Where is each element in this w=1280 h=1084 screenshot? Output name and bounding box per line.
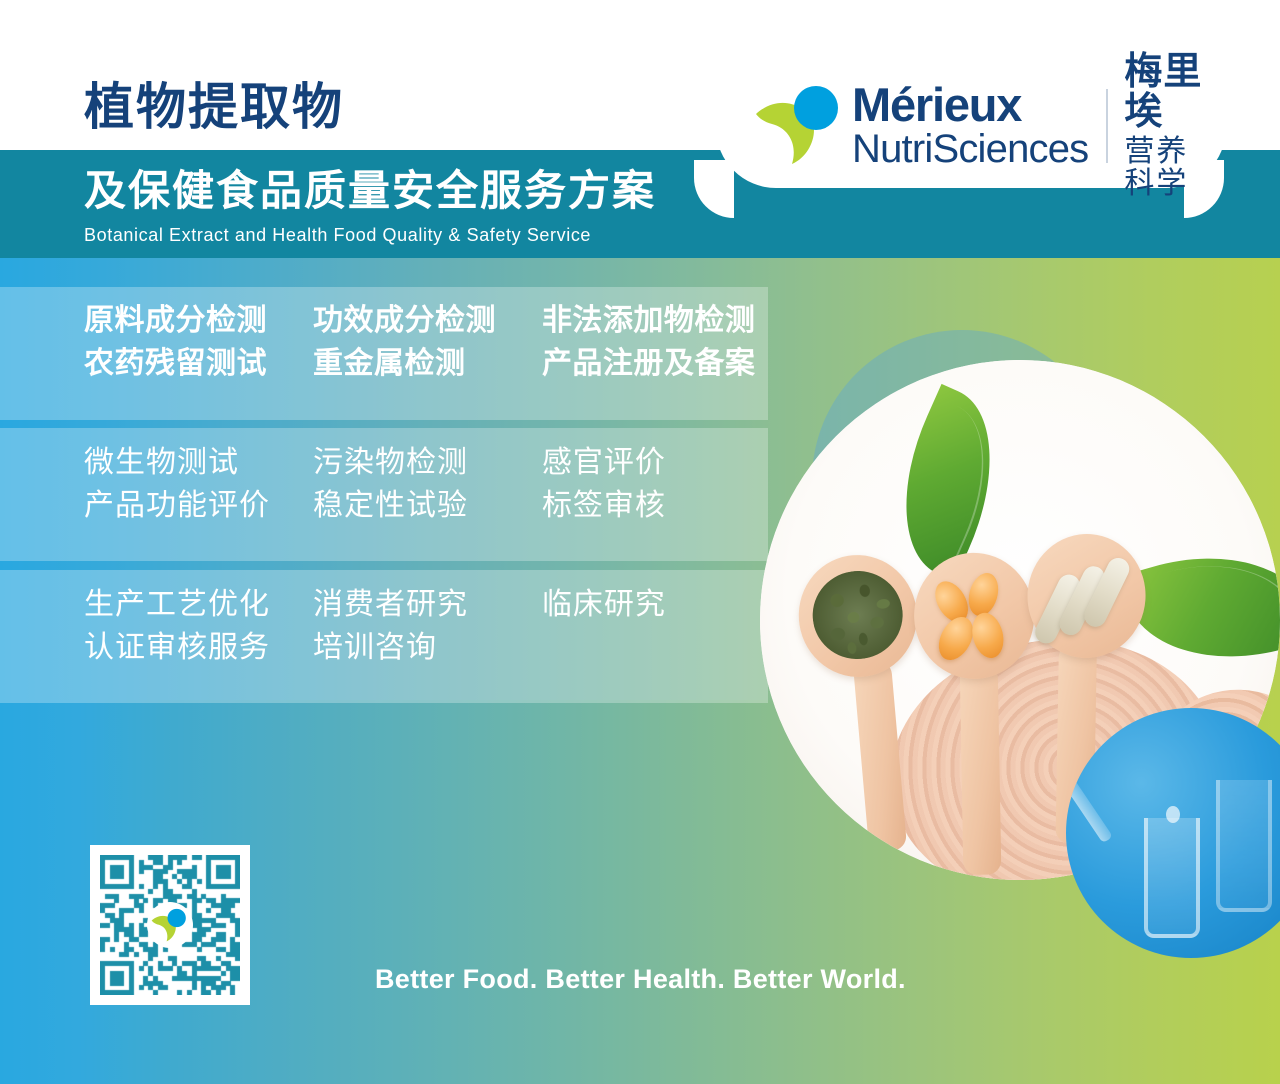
logo-divider — [1106, 89, 1108, 163]
test-tube-back — [1216, 780, 1272, 912]
page-subtitle-cn: 及保健食品质量安全服务方案 — [84, 170, 656, 212]
service-column: 功效成分检测 重金属检测 — [313, 300, 542, 385]
service-item: 微生物测试 — [84, 442, 313, 485]
service-column: 感官评价 标签审核 — [542, 442, 790, 527]
test-tube-front — [1144, 818, 1200, 938]
service-column: 微生物测试 产品功能评价 — [84, 442, 313, 527]
service-item: 功效成分检测 — [313, 300, 542, 343]
service-item: 标签审核 — [542, 485, 790, 528]
service-item: 污染物检测 — [313, 442, 542, 485]
service-column: 污染物检测 稳定性试验 — [313, 442, 542, 527]
footer-tagline: Better Food. Better Health. Better World… — [375, 966, 906, 993]
service-item: 原料成分检测 — [84, 300, 313, 343]
poster-root: Mérieux NutriSciences 梅里埃 营养科学 植物提取物 及保健… — [0, 0, 1280, 1084]
merieux-leaf-mark-icon — [752, 84, 848, 168]
service-item: 认证审核服务 — [84, 627, 313, 670]
service-item: 农药残留测试 — [84, 343, 313, 386]
service-column: 消费者研究 培训咨询 — [313, 584, 542, 669]
service-column: 原料成分检测 农药残留测试 — [84, 300, 313, 385]
brand-logo: Mérieux NutriSciences 梅里埃 营养科学 — [752, 78, 1212, 174]
service-item: 临床研究 — [542, 584, 790, 627]
service-item: 重金属检测 — [313, 343, 542, 386]
service-group-1: 原料成分检测 农药残留测试 功效成分检测 重金属检测 非法添加物检测 产品注册及… — [0, 300, 790, 385]
brand-name-cn-line1: 梅里埃 — [1124, 52, 1212, 133]
service-item: 产品注册及备案 — [542, 343, 790, 386]
liquid-drop — [1166, 806, 1180, 823]
service-column: 生产工艺优化 认证审核服务 — [84, 584, 313, 669]
service-column: 非法添加物检测 产品注册及备案 — [542, 300, 790, 385]
brand-name-line2: NutriSciences — [852, 128, 1088, 170]
service-group-3: 生产工艺优化 认证审核服务 消费者研究 培训咨询 临床研究 — [0, 584, 790, 669]
service-item: 消费者研究 — [313, 584, 542, 627]
logo-plate-notch-left — [694, 186, 730, 218]
wechat-qr-code[interactable] — [90, 845, 250, 1005]
qr-center-logo — [147, 902, 193, 948]
brand-name-line1: Mérieux — [852, 82, 1088, 127]
service-column: 临床研究 — [542, 584, 790, 669]
service-item: 感官评价 — [542, 442, 790, 485]
service-item: 培训咨询 — [313, 627, 542, 670]
service-group-2: 微生物测试 产品功能评价 污染物检测 稳定性试验 感官评价 标签审核 — [0, 442, 790, 527]
brand-wordmark: Mérieux NutriSciences — [852, 82, 1088, 170]
brand-name-cn-line2: 营养科学 — [1124, 136, 1212, 200]
page-subtitle-en: Botanical Extract and Health Food Qualit… — [84, 226, 591, 244]
service-item: 生产工艺优化 — [84, 584, 313, 627]
service-item: 非法添加物检测 — [542, 300, 790, 343]
service-item: 稳定性试验 — [313, 485, 542, 528]
page-title: 植物提取物 — [84, 82, 344, 132]
brand-wordmark-cn: 梅里埃 营养科学 — [1124, 52, 1212, 200]
header-band-upper-right — [1222, 150, 1280, 214]
service-item: 产品功能评价 — [84, 485, 313, 528]
